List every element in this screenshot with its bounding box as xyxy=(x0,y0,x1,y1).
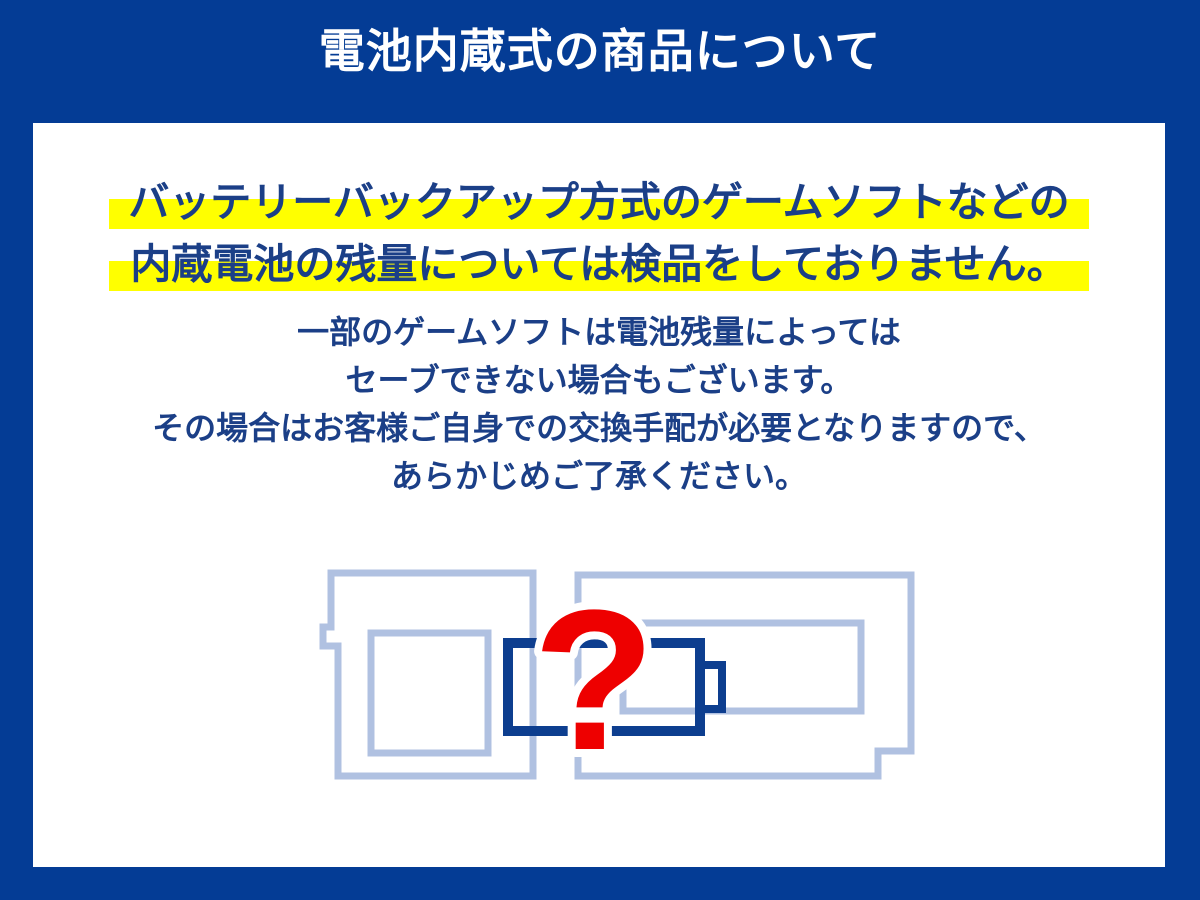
headline-line-1: バッテリーバックアップ方式のゲームソフトなどの xyxy=(33,171,1165,233)
battery-cartridge-illustration: ? ? xyxy=(293,553,933,803)
game-cartridge-vertical-icon xyxy=(323,573,533,776)
headline-block: バッテリーバックアップ方式のゲームソフトなどの 内蔵電池の残量については検品をし… xyxy=(33,171,1165,295)
headline-text-1: バッテリーバックアップ方式のゲームソフトなどの xyxy=(128,179,1069,225)
body-line-4: あらかじめご了承ください。 xyxy=(33,452,1165,500)
headline-line-2: 内蔵電池の残量については検品をしておりません。 xyxy=(33,233,1165,295)
body-line-2: セーブできない場合もございます。 xyxy=(33,356,1165,404)
content-card: バッテリーバックアップ方式のゲームソフトなどの 内蔵電池の残量については検品をし… xyxy=(33,123,1165,867)
cartridge-label-horizontal-icon xyxy=(623,623,861,711)
body-line-1: 一部のゲームソフトは電池残量によっては xyxy=(33,308,1165,356)
question-mark-icon: ? xyxy=(533,569,655,792)
body-line-3: その場合はお客様ご自身での交換手配が必要となりますので、 xyxy=(33,404,1165,452)
headline-text-2: 内蔵電池の残量については検品をしておりません。 xyxy=(130,241,1067,287)
battery-terminal-icon xyxy=(700,665,722,709)
page-title: 電池内蔵式の商品について xyxy=(0,26,1200,77)
body-copy: 一部のゲームソフトは電池残量によっては セーブできない場合もございます。 その場… xyxy=(33,308,1165,500)
cartridge-label-vertical-icon xyxy=(371,633,488,753)
